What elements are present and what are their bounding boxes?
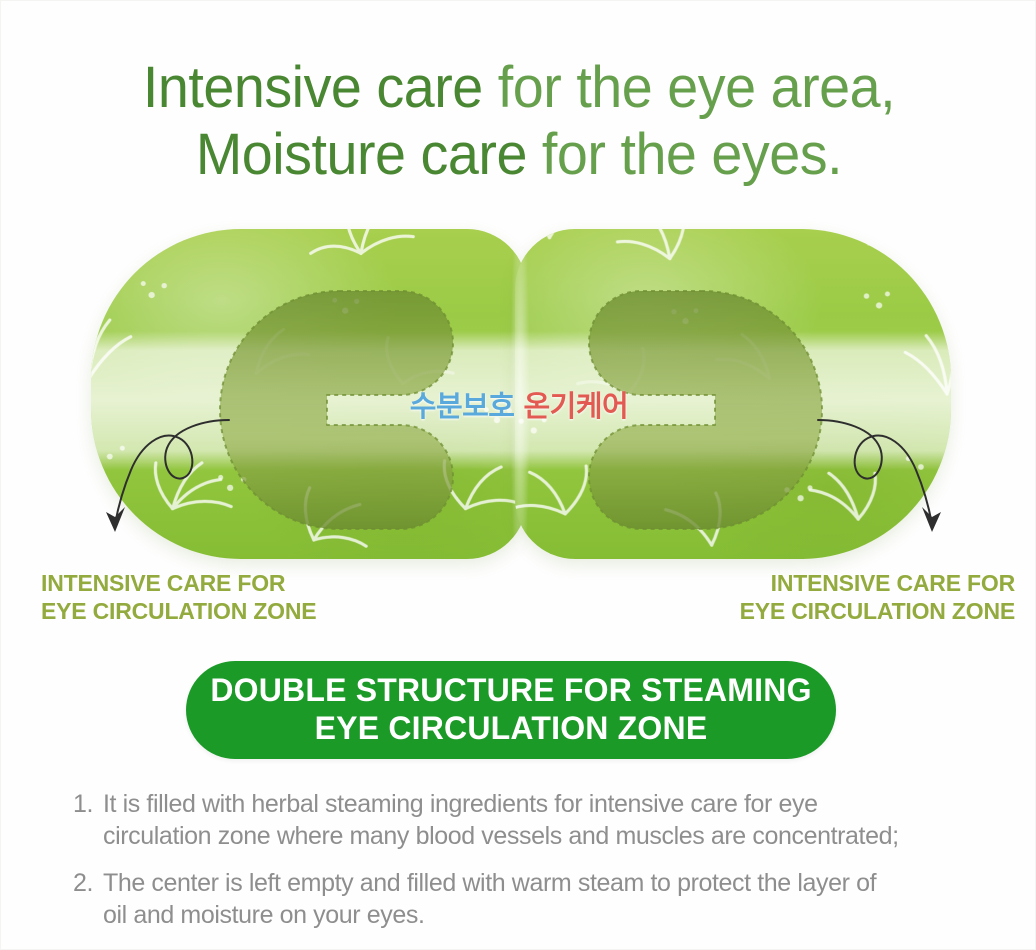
caption-right-line-2: EYE CIRCULATION ZONE xyxy=(740,597,1015,625)
korean-moisture-label: 수분보호 xyxy=(410,391,515,423)
note-2-line-1: The center is left empty and filled with… xyxy=(103,868,973,900)
headline-line-2: Moisture care for the eyes. xyxy=(22,126,1017,184)
caption-left-line-1: INTENSIVE CARE FOR xyxy=(41,570,285,596)
headline-line-1: Intensive care for the eye area, xyxy=(22,59,1017,117)
headline-line-2-strong: Moisture care xyxy=(196,122,527,187)
note-1-line-1: It is filled with herbal steaming ingred… xyxy=(103,789,973,821)
korean-benefit-text: 수분보호온기케어 xyxy=(1,383,1036,425)
caption-right-circulation-zone: INTENSIVE CARE FOR EYE CIRCULATION ZONE xyxy=(740,569,1015,625)
headline-line-1-rest: for the eye area, xyxy=(483,55,895,120)
headline-line-2-rest: for the eyes. xyxy=(527,122,842,187)
product-detail-page: Intensive care for the eye area, Moistur… xyxy=(0,0,1036,950)
headline-line-1-strong: Intensive care xyxy=(143,55,483,120)
list-item: 2. The center is left empty and filled w… xyxy=(73,868,973,931)
caption-left-line-2: EYE CIRCULATION ZONE xyxy=(41,597,316,625)
feature-notes-list: 1. It is filled with herbal steaming ing… xyxy=(73,789,973,947)
banner-line-2: EYE CIRCULATION ZONE xyxy=(315,710,708,748)
banner-line-1: DOUBLE STRUCTURE FOR STEAMING xyxy=(210,672,811,710)
note-1-line-2: circulation zone where many blood vessel… xyxy=(103,821,973,853)
note-2-number: 2. xyxy=(73,868,103,931)
note-2-body: The center is left empty and filled with… xyxy=(103,868,973,931)
caption-right-line-1: INTENSIVE CARE FOR xyxy=(771,570,1015,596)
note-1-number: 1. xyxy=(73,789,103,852)
caption-left-circulation-zone: INTENSIVE CARE FOR EYE CIRCULATION ZONE xyxy=(41,569,316,625)
list-item: 1. It is filled with herbal steaming ing… xyxy=(73,789,973,852)
korean-warmth-label: 온기케어 xyxy=(524,391,629,423)
double-structure-banner: DOUBLE STRUCTURE FOR STEAMING EYE CIRCUL… xyxy=(186,661,836,759)
page-headline: Intensive care for the eye area, Moistur… xyxy=(1,59,1036,184)
note-1-body: It is filled with herbal steaming ingred… xyxy=(103,789,973,852)
note-2-line-2: oil and moisture on your eyes. xyxy=(103,900,973,932)
